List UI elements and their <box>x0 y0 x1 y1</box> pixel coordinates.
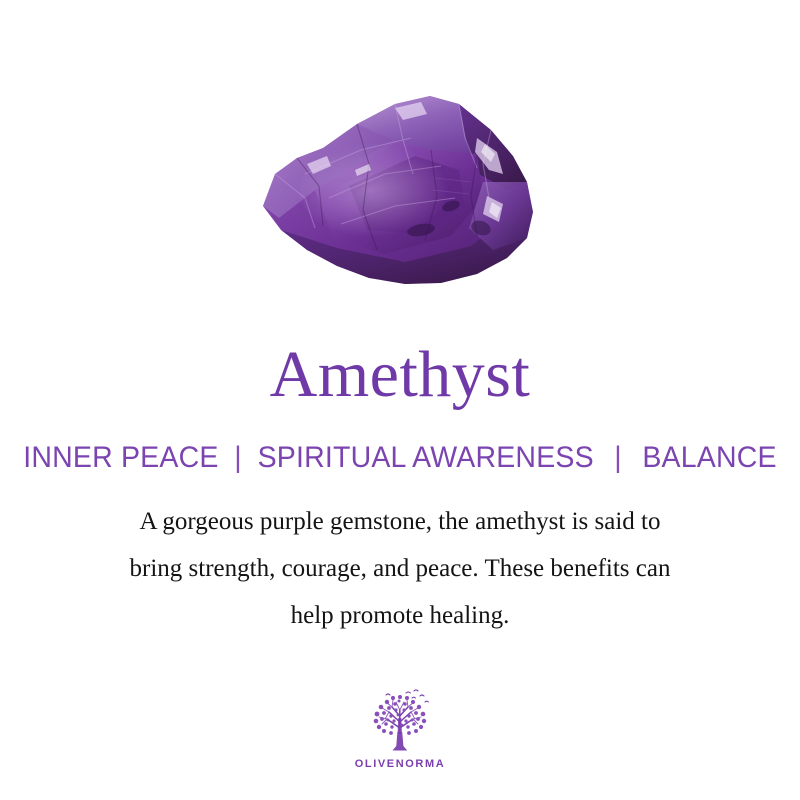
description-line: help promote healing. <box>50 592 750 639</box>
description-line: bring strength, courage, and peace. Thes… <box>50 545 750 592</box>
brand-logo: OLIVENORMA <box>0 688 800 770</box>
product-info-card: Amethyst INNER PEACE | SPIRITUAL AWARENE… <box>0 0 800 800</box>
product-title: Amethyst <box>0 336 800 414</box>
crystal-faces <box>245 78 555 293</box>
keyword-spiritual-awareness: SPIRITUAL AWARENESS <box>258 441 594 474</box>
amethyst-crystal-image <box>245 78 555 293</box>
keyword-separator: | <box>602 440 634 476</box>
product-description: A gorgeous purple gemstone, the amethyst… <box>50 498 750 639</box>
brand-name: OLIVENORMA <box>355 758 446 770</box>
tree-of-life-icon <box>362 688 438 756</box>
keyword-balance: BALANCE <box>642 441 776 474</box>
keyword-separator: | <box>227 440 250 476</box>
keyword-inner-peace: INNER PEACE <box>23 441 218 474</box>
description-line: A gorgeous purple gemstone, the amethyst… <box>50 498 750 545</box>
amethyst-crystal-illustration <box>245 78 555 293</box>
product-keywords: INNER PEACE | SPIRITUAL AWARENESS | BALA… <box>20 440 780 476</box>
